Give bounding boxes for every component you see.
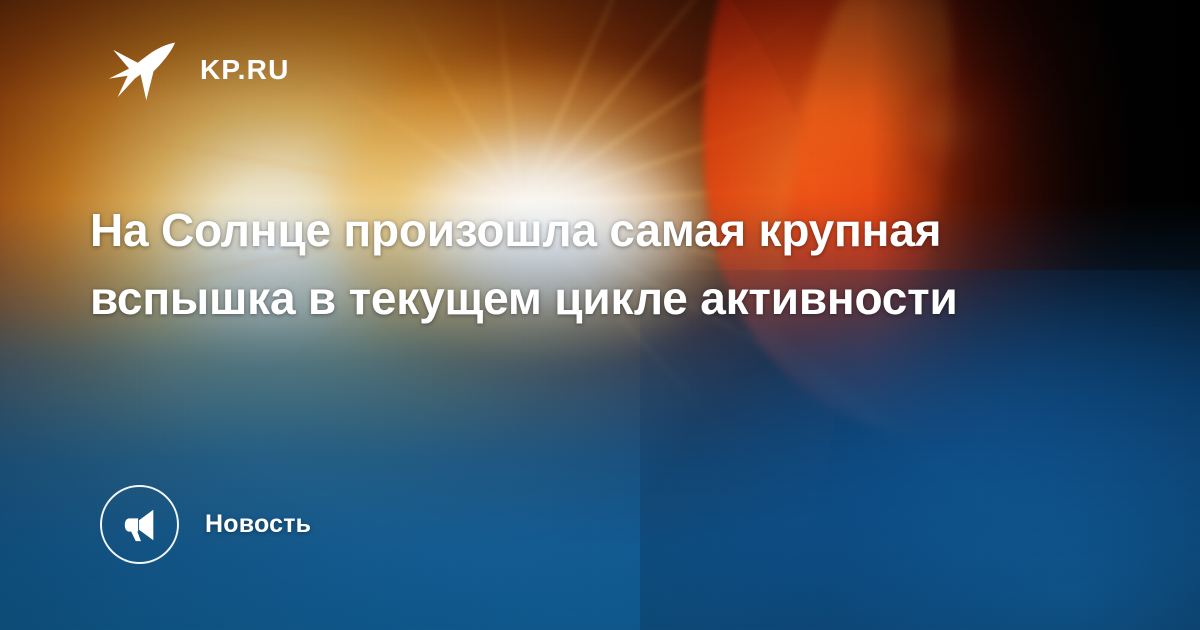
badge-circle xyxy=(100,485,179,564)
status-badge[interactable]: Новость xyxy=(100,485,311,564)
share-card: KP.RU На Солнце произошла самая крупная … xyxy=(0,0,1200,630)
megaphone-icon xyxy=(121,506,159,544)
swallow-bird-icon xyxy=(106,34,178,106)
brand-name: KP.RU xyxy=(200,56,290,84)
page-title: На Солнце произошла самая крупная вспышк… xyxy=(90,196,970,332)
brand-lockup[interactable]: KP.RU xyxy=(106,34,290,106)
badge-label: Новость xyxy=(205,512,311,537)
card-content: KP.RU На Солнце произошла самая крупная … xyxy=(0,0,1200,630)
